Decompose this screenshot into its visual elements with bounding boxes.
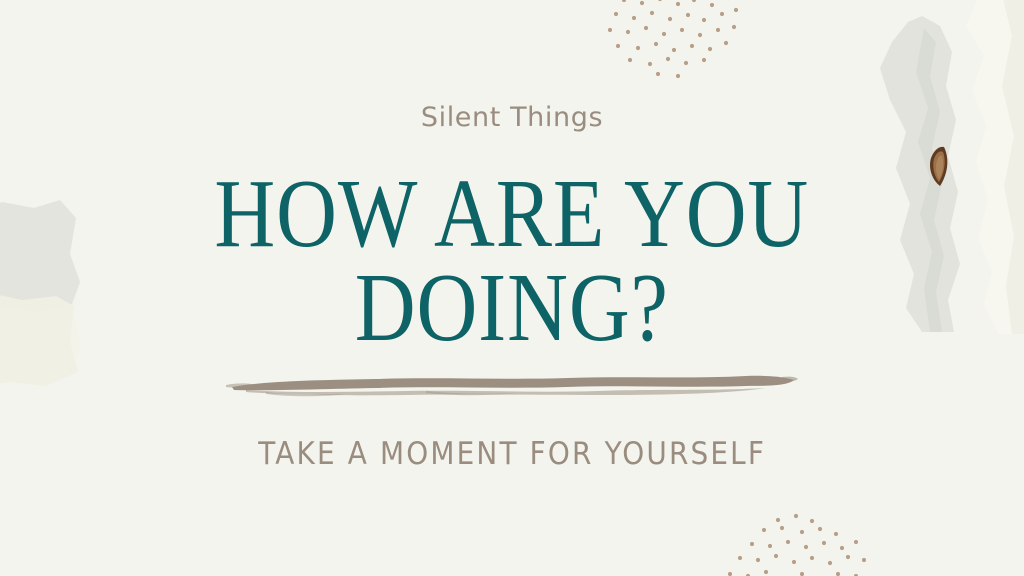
brand-label: Silent Things [421, 104, 603, 131]
headline-line-1: HOW ARE YOU [215, 167, 810, 261]
subtitle-text: TAKE A MOMENT FOR YOURSELF [258, 439, 766, 470]
slide-canvas: Silent Things HOW ARE YOU DOING? TAKE A … [0, 0, 1024, 576]
slide-content: Silent Things HOW ARE YOU DOING? TAKE A … [0, 0, 1024, 576]
headline-line-2: DOING? [215, 261, 810, 355]
brush-stroke-divider [226, 371, 798, 397]
page-title: HOW ARE YOU DOING? [215, 167, 810, 355]
